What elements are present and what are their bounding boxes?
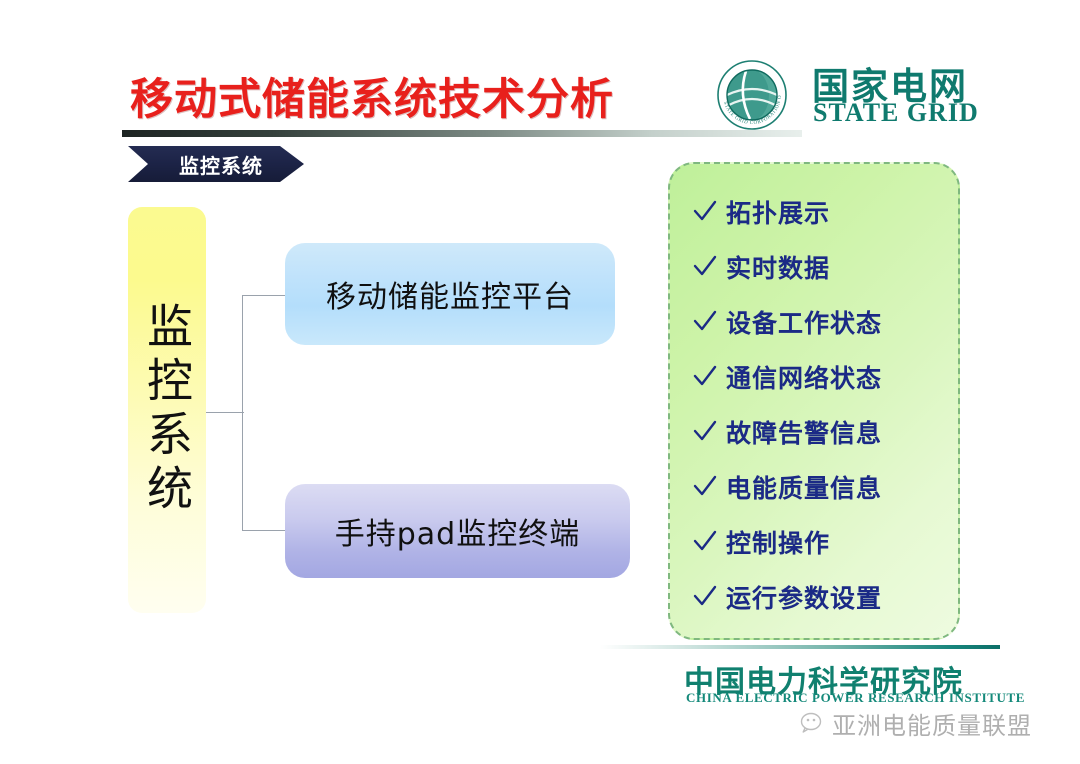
check-icon [692, 584, 718, 610]
feature-panel: 拓扑展示 实时数据 设备工作状态 通信网络状态 [668, 162, 960, 640]
state-grid-logo: 国家电网公司 STATE GRID CORPORATION OF CHINA 国… [716, 57, 976, 133]
diagram-root-node: 监控系统 [128, 207, 206, 613]
diagram-root-label: 监控系统 [128, 207, 206, 613]
check-icon [692, 254, 718, 280]
list-item: 运行参数设置 [670, 579, 958, 615]
section-ribbon: 监控系统 [128, 146, 304, 182]
feature-label: 电能质量信息 [726, 469, 882, 505]
feature-label: 通信网络状态 [726, 359, 882, 395]
feature-label: 运行参数设置 [726, 579, 882, 615]
list-item: 拓扑展示 [670, 194, 958, 230]
diagram-child-label: 手持pad监控终端 [335, 509, 580, 553]
page-title: 移动式储能系统技术分析 [130, 65, 614, 127]
list-item: 实时数据 [670, 249, 958, 285]
slide-canvas: 移动式储能系统技术分析 国家电网公司 STATE GRID CORPORATIO… [0, 0, 1080, 764]
check-icon [692, 474, 718, 500]
list-item: 通信网络状态 [670, 359, 958, 395]
connector-stub [206, 412, 244, 413]
diagram-child-node-pad: 手持pad监控终端 [285, 484, 630, 578]
brand-name-en: STATE GRID [813, 98, 979, 128]
list-item: 电能质量信息 [670, 469, 958, 505]
feature-label: 实时数据 [726, 249, 830, 285]
feature-label: 拓扑展示 [726, 194, 830, 230]
list-item: 故障告警信息 [670, 414, 958, 450]
connector-vertical [242, 295, 243, 531]
check-icon [692, 529, 718, 555]
feature-label: 控制操作 [726, 524, 830, 560]
brand-name-en-text: STATE GRID [813, 98, 979, 127]
check-icon [692, 309, 718, 335]
diagram-child-label: 移动储能监控平台 [326, 272, 574, 316]
institute-name-en: CHINA ELECTRIC POWER RESEARCH INSTITUTE [686, 690, 1025, 706]
feature-label: 设备工作状态 [726, 304, 882, 340]
diagram-child-node-platform: 移动储能监控平台 [285, 243, 615, 345]
section-ribbon-label: 监控系统 [158, 146, 284, 182]
state-grid-globe-icon: 国家电网公司 STATE GRID CORPORATION OF CHINA [716, 59, 788, 131]
list-item: 控制操作 [670, 524, 958, 560]
footer-divider [600, 645, 1000, 649]
title-divider [122, 130, 802, 137]
check-icon [692, 199, 718, 225]
check-icon [692, 419, 718, 445]
watermark: 亚洲电能质量联盟 [800, 706, 1032, 741]
list-item: 设备工作状态 [670, 304, 958, 340]
feature-label: 故障告警信息 [726, 414, 882, 450]
watermark-label: 亚洲电能质量联盟 [832, 706, 1032, 741]
connector-arm-bottom [242, 530, 288, 531]
feature-list: 拓扑展示 实时数据 设备工作状态 通信网络状态 [670, 184, 958, 624]
wechat-icon [800, 711, 826, 737]
connector-arm-top [242, 295, 288, 296]
check-icon [692, 364, 718, 390]
